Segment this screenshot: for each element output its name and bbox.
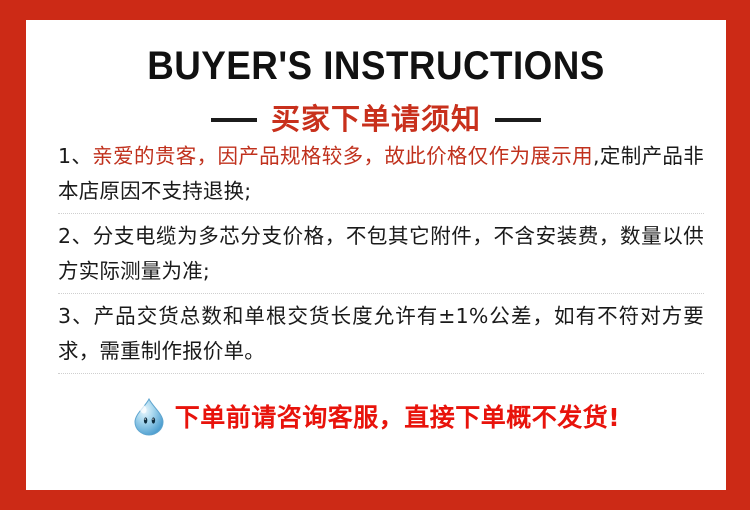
promo-banner: BUYER'S INSTRUCTIONS 买家下单请须知 1、亲爱的贵客，因产品… [0,0,750,510]
divider-dash-right [495,118,541,122]
list-item-highlight: 亲爱的贵客，因产品规格较多，故此价格仅作为展示用 [92,144,593,168]
list-item-number: 3、 [58,304,94,328]
subtitle-chinese: 买家下单请须知 [271,105,481,134]
instructions-list: 1、亲爱的贵客，因产品规格较多，故此价格仅作为展示用,定制产品非本店原因不支持退… [26,134,726,374]
warning-text: 下单前请咨询客服，直接下单概不发货! [175,405,620,430]
blue-droplet-face-icon [132,398,166,436]
subtitle-row: 买家下单请须知 [26,105,726,134]
list-item-text: 产品交货总数和单根交货长度允许有±1%公差，如有不符对方要求，需重制作报价单。 [58,304,704,363]
list-item: 2、分支电缆为多芯分支价格，不包其它附件，不含安装费，数量以供方实际测量为准; [58,214,704,293]
warning-row: 下单前请咨询客服，直接下单概不发货! [26,398,726,436]
page-title: BUYER'S INSTRUCTIONS [54,20,698,86]
list-item: 3、产品交货总数和单根交货长度允许有±1%公差，如有不符对方要求，需重制作报价单… [58,294,704,373]
list-item-number: 1、 [58,144,92,168]
list-item-number: 2、 [58,224,93,248]
divider-dash-left [211,118,257,122]
list-item-text: 分支电缆为多芯分支价格，不包其它附件，不含安装费，数量以供方实际测量为准; [58,224,704,283]
content-panel: BUYER'S INSTRUCTIONS 买家下单请须知 1、亲爱的贵客，因产品… [26,20,726,490]
list-separator [58,373,704,374]
list-item: 1、亲爱的贵客，因产品规格较多，故此价格仅作为展示用,定制产品非本店原因不支持退… [58,134,704,213]
